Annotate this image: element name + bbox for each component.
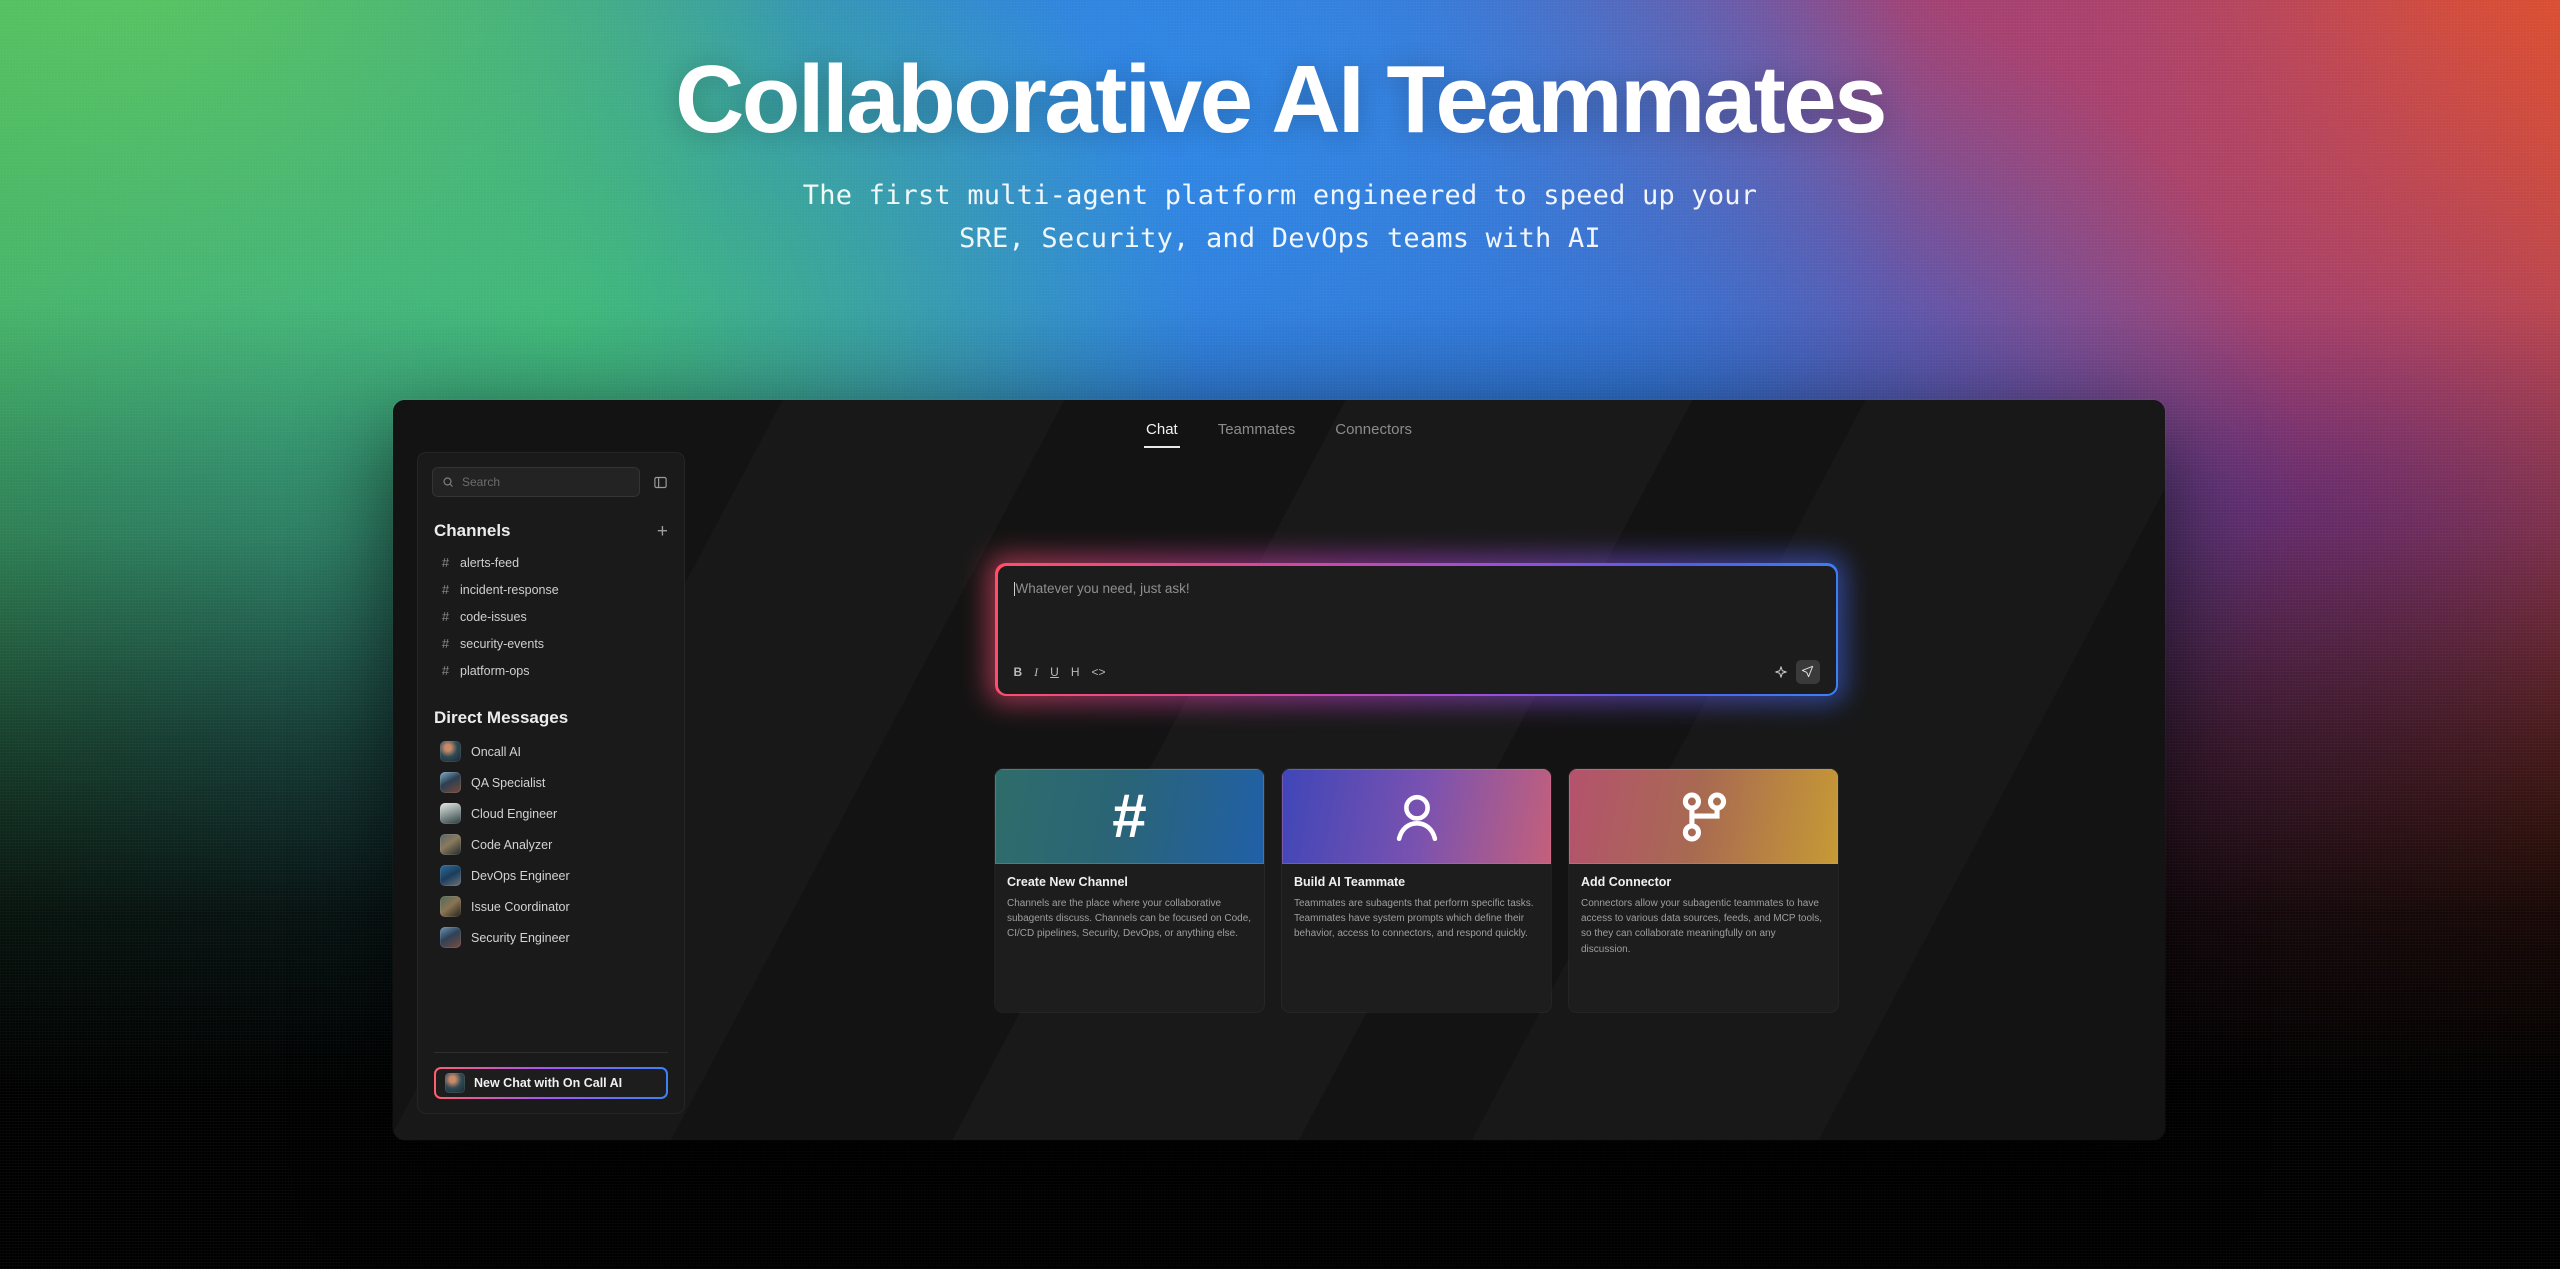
hash-icon: # xyxy=(440,555,451,570)
search-placeholder: Search xyxy=(462,475,500,489)
avatar xyxy=(445,1073,465,1093)
hash-icon: # xyxy=(440,636,451,651)
underline-button[interactable]: U xyxy=(1050,666,1059,678)
dm-label: Security Engineer xyxy=(471,931,570,945)
channels-list: # alerts-feed # incident-response # code… xyxy=(432,549,670,684)
card-body: Add Connector Connectors allow your suba… xyxy=(1569,864,1838,969)
subtitle-line-1: The first multi-agent platform engineere… xyxy=(803,180,1757,211)
hash-icon: # xyxy=(440,663,451,678)
sidebar-item-security-engineer[interactable]: Security Engineer xyxy=(432,922,670,953)
sidebar-item-security-events[interactable]: # security-events xyxy=(432,630,670,657)
format-tools: B I U H <> xyxy=(1014,666,1106,678)
channel-label: security-events xyxy=(460,637,544,651)
direct-messages-section-header: Direct Messages xyxy=(434,708,668,728)
channel-label: alerts-feed xyxy=(460,556,519,570)
app-tab-bar: Chat Teammates Connectors xyxy=(393,418,2165,448)
dm-label: Cloud Engineer xyxy=(471,807,557,821)
hash-icon: # xyxy=(1112,786,1146,848)
sidebar: Search Channels + # alerts-feed xyxy=(417,452,685,1114)
card-title: Build AI Teammate xyxy=(1294,875,1539,889)
avatar xyxy=(440,927,461,948)
sidebar-panel-icon[interactable] xyxy=(650,472,670,492)
card-header xyxy=(1569,769,1838,864)
new-chat-button-inner: New Chat with On Call AI xyxy=(436,1069,666,1097)
composer-toolbar: B I U H <> xyxy=(1014,660,1820,684)
message-composer-wrapper: Whatever you need, just ask! B I U H <> xyxy=(995,563,1838,696)
sidebar-item-incident-response[interactable]: # incident-response xyxy=(432,576,670,603)
sidebar-divider xyxy=(434,1052,668,1053)
card-description: Connectors allow your subagentic teammat… xyxy=(1581,896,1826,957)
add-channel-button[interactable]: + xyxy=(657,522,668,541)
heading-button[interactable]: H xyxy=(1071,666,1080,678)
sidebar-search-row: Search xyxy=(432,467,670,497)
channels-section-header: Channels + xyxy=(434,521,668,541)
page-subtitle: The first multi-agent platform engineere… xyxy=(620,174,1940,261)
sidebar-item-code-analyzer[interactable]: Code Analyzer xyxy=(432,829,670,860)
avatar xyxy=(440,865,461,886)
tab-chat[interactable]: Chat xyxy=(1144,418,1180,448)
user-icon xyxy=(1388,788,1446,846)
code-button[interactable]: <> xyxy=(1092,666,1106,678)
avatar xyxy=(440,772,461,793)
hash-icon: # xyxy=(440,582,451,597)
search-icon xyxy=(442,476,454,488)
tab-teammates[interactable]: Teammates xyxy=(1216,418,1298,448)
sidebar-item-oncall-ai[interactable]: Oncall AI xyxy=(432,736,670,767)
page-title: Collaborative AI Teammates xyxy=(0,48,2560,152)
action-cards: # Create New Channel Channels are the pl… xyxy=(995,769,1838,1012)
composer-inner: Whatever you need, just ask! B I U H <> xyxy=(998,566,1836,694)
hero-section: Collaborative AI Teammates The first mul… xyxy=(0,0,2560,1269)
sidebar-item-devops-engineer[interactable]: DevOps Engineer xyxy=(432,860,670,891)
message-composer[interactable]: Whatever you need, just ask! B I U H <> xyxy=(995,563,1838,696)
channel-label: platform-ops xyxy=(460,664,529,678)
card-title: Create New Channel xyxy=(1007,875,1252,889)
tab-connectors[interactable]: Connectors xyxy=(1333,418,1414,448)
dm-label: Issue Coordinator xyxy=(471,900,570,914)
card-create-new-channel[interactable]: # Create New Channel Channels are the pl… xyxy=(995,769,1264,1012)
new-chat-button[interactable]: New Chat with On Call AI xyxy=(434,1067,668,1099)
bold-button[interactable]: B xyxy=(1014,666,1023,678)
direct-messages-title: Direct Messages xyxy=(434,708,568,728)
card-description: Teammates are subagents that perform spe… xyxy=(1294,896,1539,942)
avatar xyxy=(440,741,461,762)
card-header: # xyxy=(995,769,1264,864)
avatar xyxy=(440,896,461,917)
sidebar-item-alerts-feed[interactable]: # alerts-feed xyxy=(432,549,670,576)
send-button[interactable] xyxy=(1796,660,1820,684)
card-header xyxy=(1282,769,1551,864)
new-chat-label: New Chat with On Call AI xyxy=(474,1076,622,1090)
channel-label: code-issues xyxy=(460,610,527,624)
message-input[interactable]: Whatever you need, just ask! xyxy=(1014,582,1190,597)
dm-label: Oncall AI xyxy=(471,745,521,759)
avatar xyxy=(440,803,461,824)
sidebar-item-qa-specialist[interactable]: QA Specialist xyxy=(432,767,670,798)
avatar xyxy=(440,834,461,855)
card-title: Add Connector xyxy=(1581,875,1826,889)
sidebar-spacer xyxy=(432,953,670,1052)
dm-label: Code Analyzer xyxy=(471,838,552,852)
app-window-screenshot: Chat Teammates Connectors Search xyxy=(393,400,2165,1140)
card-description: Channels are the place where your collab… xyxy=(1007,896,1252,942)
dm-label: DevOps Engineer xyxy=(471,869,570,883)
git-branch-icon xyxy=(1675,788,1733,846)
sidebar-item-cloud-engineer[interactable]: Cloud Engineer xyxy=(432,798,670,829)
channel-label: incident-response xyxy=(460,583,559,597)
hash-icon: # xyxy=(440,609,451,624)
hero-text-block: Collaborative AI Teammates The first mul… xyxy=(0,0,2560,261)
dm-label: QA Specialist xyxy=(471,776,545,790)
italic-button[interactable]: I xyxy=(1034,666,1038,678)
channels-title: Channels xyxy=(434,521,511,541)
card-build-ai-teammate[interactable]: Build AI Teammate Teammates are subagent… xyxy=(1282,769,1551,1012)
search-input[interactable]: Search xyxy=(432,467,640,497)
direct-messages-list: Oncall AI QA Specialist Cloud Engineer C… xyxy=(432,736,670,953)
sparkle-icon[interactable] xyxy=(1773,664,1789,680)
subtitle-line-2: SRE, Security, and DevOps teams with AI xyxy=(959,223,1601,254)
send-tools xyxy=(1773,660,1820,684)
sidebar-item-platform-ops[interactable]: # platform-ops xyxy=(432,657,670,684)
sidebar-item-issue-coordinator[interactable]: Issue Coordinator xyxy=(432,891,670,922)
card-add-connector[interactable]: Add Connector Connectors allow your suba… xyxy=(1569,769,1838,1012)
sidebar-item-code-issues[interactable]: # code-issues xyxy=(432,603,670,630)
card-body: Create New Channel Channels are the plac… xyxy=(995,864,1264,954)
card-body: Build AI Teammate Teammates are subagent… xyxy=(1282,864,1551,954)
